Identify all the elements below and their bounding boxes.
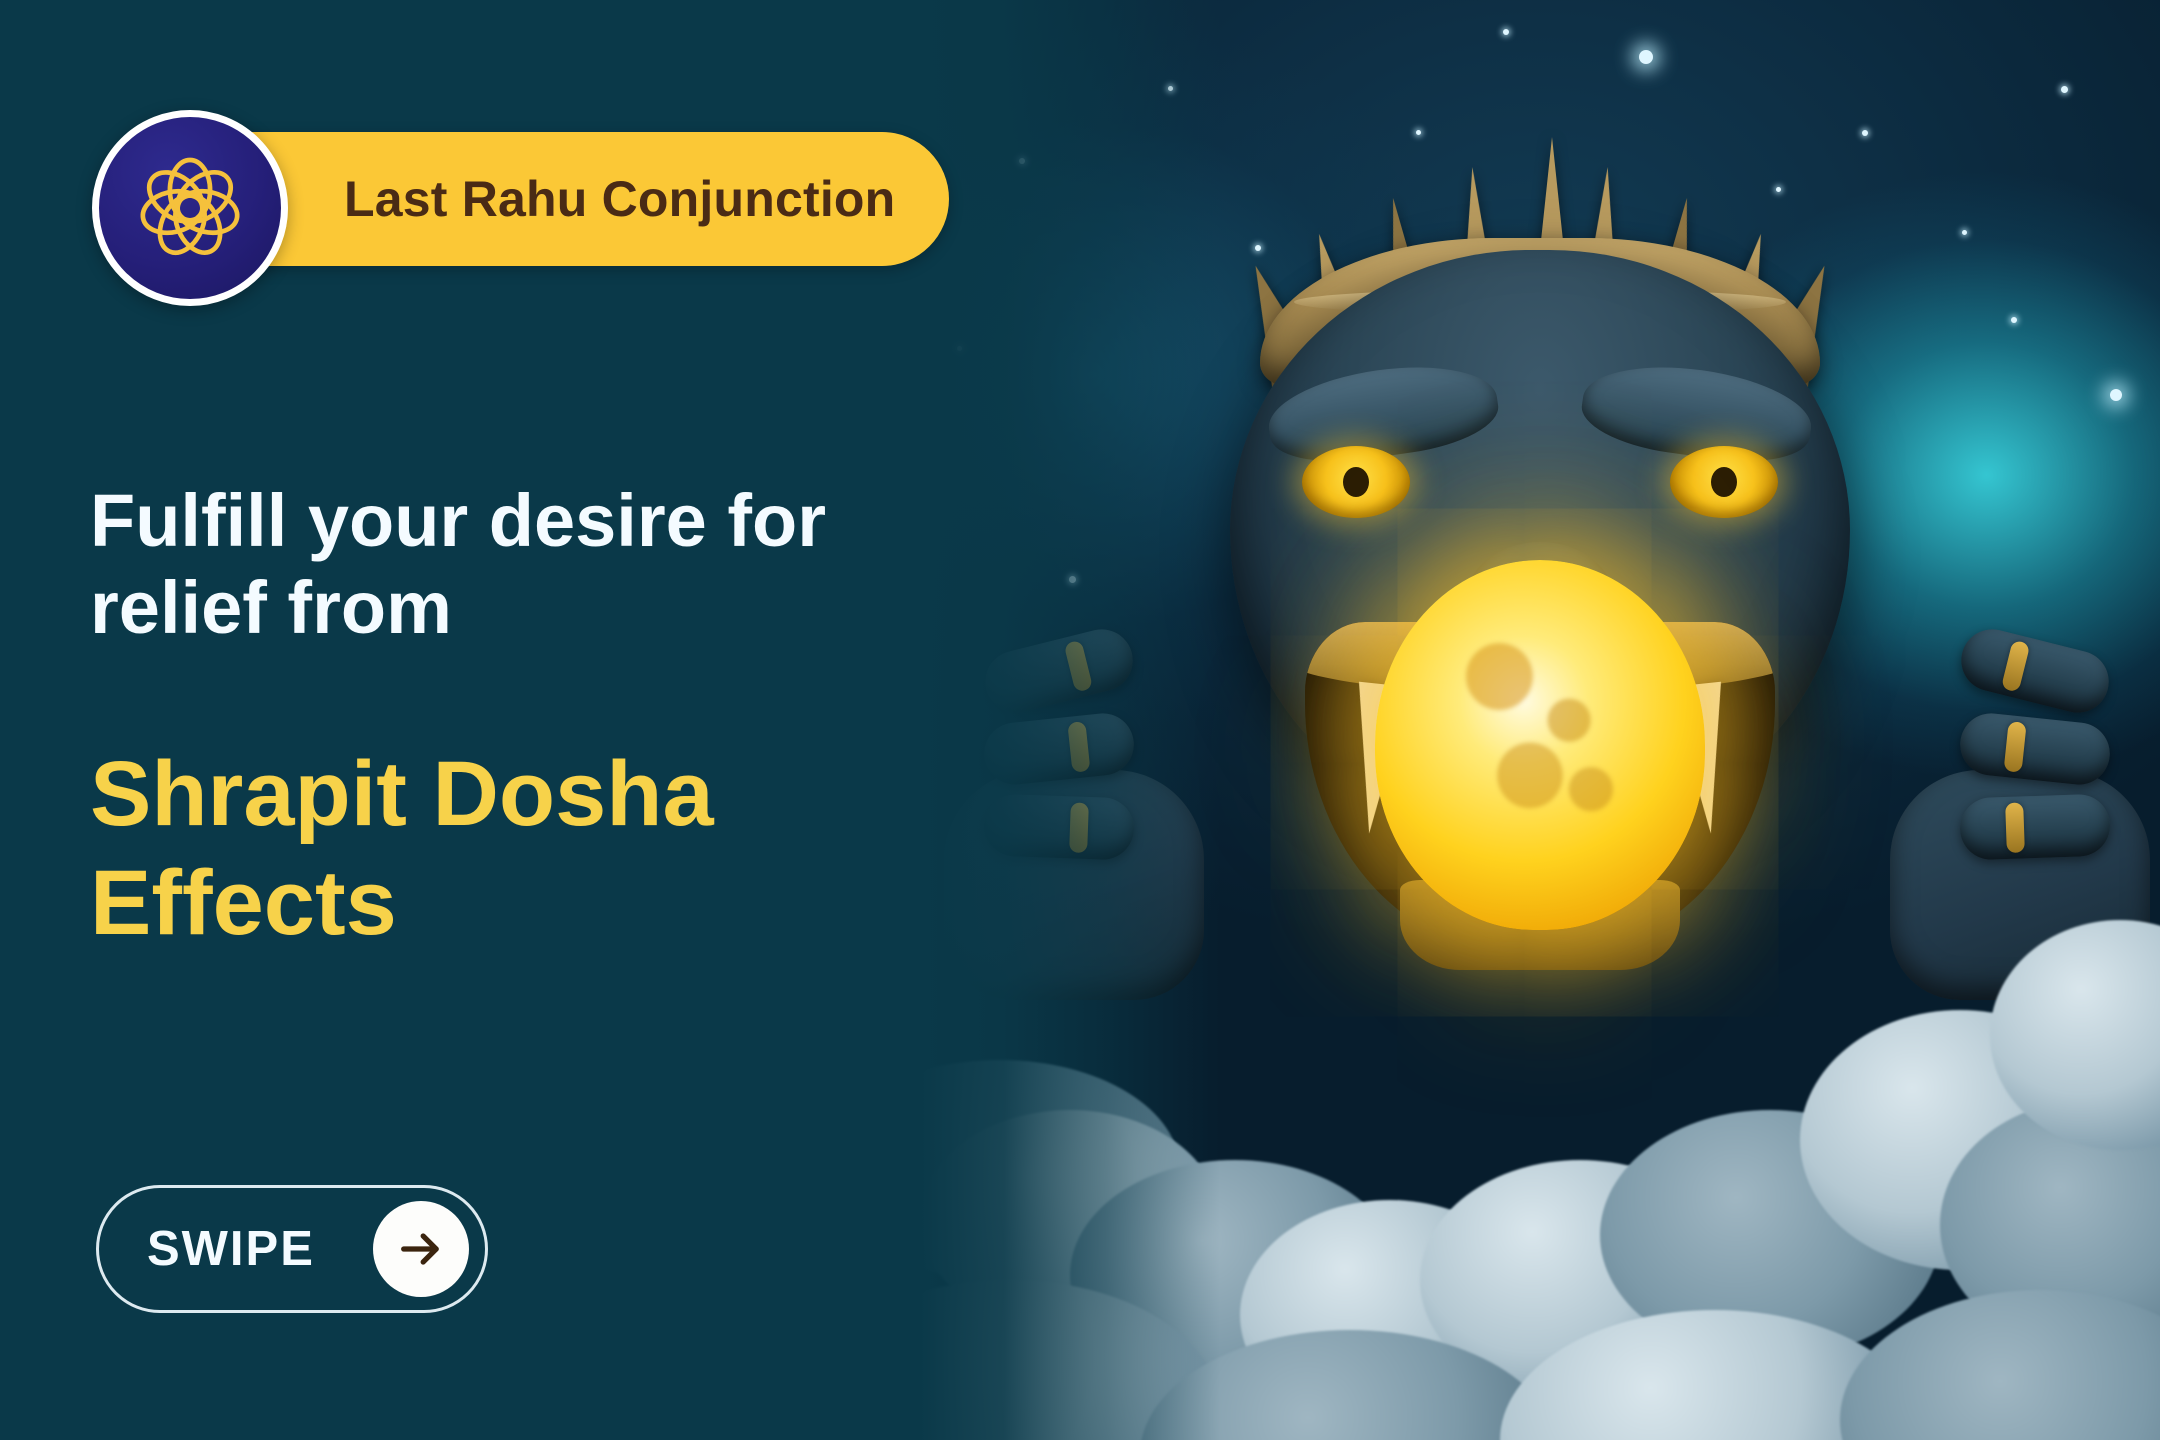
lotus-mandala-icon	[92, 110, 288, 306]
eye-right	[1670, 446, 1778, 518]
arrow-right-icon[interactable]	[373, 1201, 469, 1297]
headline-line-1: Fulfill your desire for	[90, 478, 930, 565]
headline-gold-line-2: Effects	[90, 849, 970, 958]
headline-gold-line-1: Shrapit Dosha	[90, 740, 970, 849]
swipe-label: SWIPE	[147, 1221, 315, 1277]
eye-left	[1302, 446, 1410, 518]
slide-canvas: Last Rahu Conjunction Fulfill your desir…	[0, 0, 2160, 1440]
content-panel: Last Rahu Conjunction Fulfill your desir…	[0, 0, 1000, 1440]
headline-line-2: relief from	[90, 565, 930, 652]
swipe-button[interactable]: SWIPE	[96, 1185, 488, 1313]
headline-white: Fulfill your desire for relief from	[90, 478, 930, 651]
headline-gold: Shrapit Dosha Effects	[90, 740, 970, 957]
rahu-artwork	[920, 0, 2160, 1440]
badge-label: Last Rahu Conjunction	[344, 170, 895, 228]
